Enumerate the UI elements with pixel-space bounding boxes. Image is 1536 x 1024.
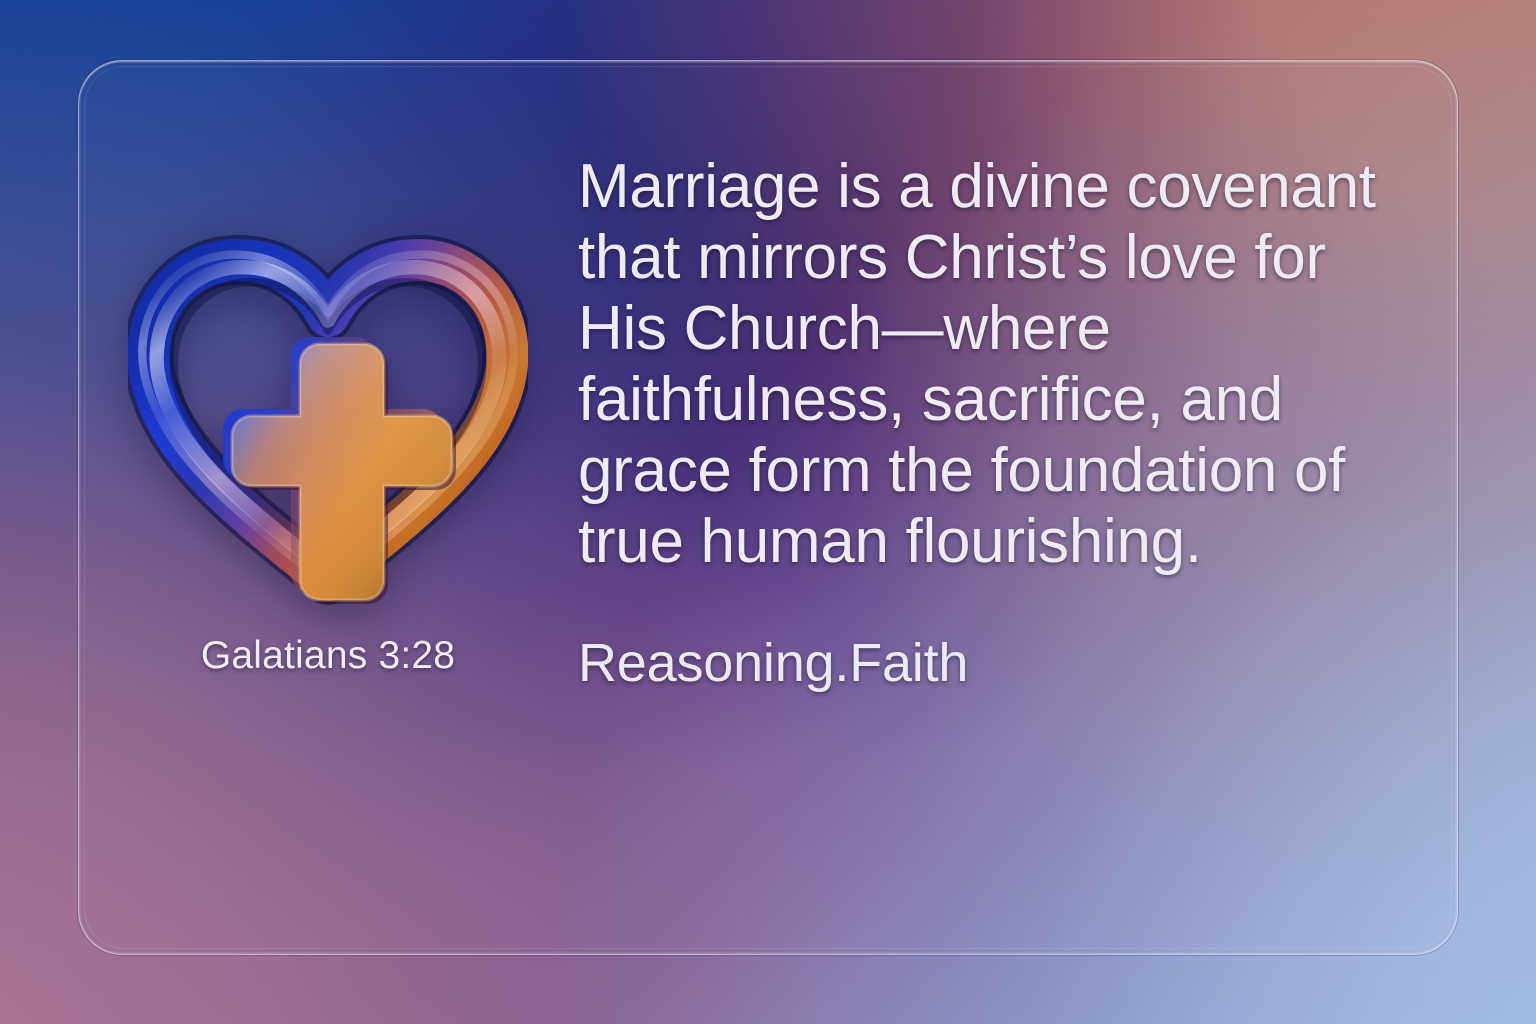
quote-text: Marriage is a divine covenant that mirro… [578, 152, 1398, 578]
heart-cross-icon [128, 228, 528, 608]
cross-shape [223, 337, 456, 604]
icon-column: Galatians 3:28 [78, 60, 578, 678]
text-column: Marriage is a divine covenant that mirro… [578, 60, 1458, 693]
brand-name: Reasoning.Faith [578, 634, 1418, 693]
verse-reference: Galatians 3:28 [201, 634, 455, 678]
card-content: Galatians 3:28 Marriage is a divine cove… [78, 60, 1458, 955]
